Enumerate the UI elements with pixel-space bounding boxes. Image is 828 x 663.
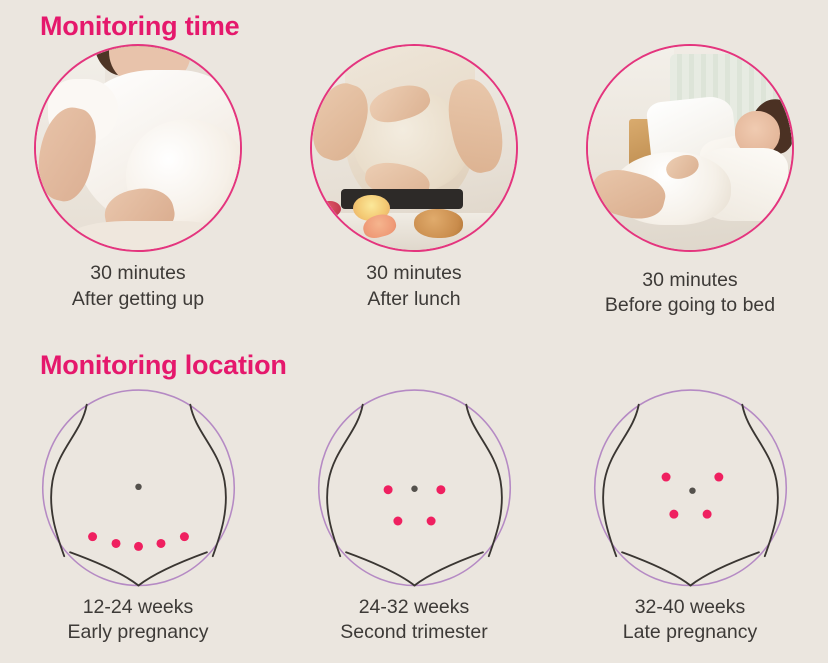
monitoring-time-item-getting-up: 30 minutes After getting up xyxy=(0,44,276,319)
caption-second-trimester: 24-32 weeks Second trimester xyxy=(340,595,487,646)
caption-line-1: 30 minutes xyxy=(366,261,461,287)
caption-late-pregnancy: 32-40 weeks Late pregnancy xyxy=(623,595,757,646)
measurement-dot xyxy=(426,517,435,526)
photo-pregnant-woman-with-fruit xyxy=(310,44,518,252)
caption-line-2: Before going to bed xyxy=(605,293,775,319)
diagram-ring-circle xyxy=(594,390,786,585)
torso-right-outline xyxy=(190,405,226,556)
measurement-dot xyxy=(669,510,678,519)
caption-before-bed: 30 minutes Before going to bed xyxy=(605,268,775,319)
photo-inner xyxy=(588,46,792,250)
caption-line-2: Early pregnancy xyxy=(68,620,209,646)
navel-marker xyxy=(411,486,417,492)
measurement-dot xyxy=(436,485,445,494)
caption-after-lunch: 30 minutes After lunch xyxy=(366,261,461,312)
photo-inner xyxy=(312,46,516,250)
torso-left-outline xyxy=(603,405,639,556)
monitoring-location-row: 12-24 weeks Early pregnancy xyxy=(0,386,828,646)
photo-inner xyxy=(36,46,240,250)
navel-marker xyxy=(689,487,695,493)
monitoring-location-item-early-pregnancy: 12-24 weeks Early pregnancy xyxy=(0,386,276,646)
measurement-dot xyxy=(383,485,392,494)
photo-pants xyxy=(65,221,228,250)
torso-left-outline xyxy=(327,405,363,556)
caption-line-2: Late pregnancy xyxy=(623,620,757,646)
groin-crease-left xyxy=(622,552,690,585)
caption-early-pregnancy: 12-24 weeks Early pregnancy xyxy=(68,595,209,646)
caption-line-1: 32-40 weeks xyxy=(623,595,757,621)
groin-crease-right xyxy=(138,552,206,585)
monitoring-location-item-late-pregnancy: 32-40 weeks Late pregnancy xyxy=(552,386,828,646)
photo-pregnant-woman-white-top xyxy=(34,44,242,252)
measurement-dot xyxy=(156,539,165,548)
monitoring-time-item-before-bed: 30 minutes Before going to bed xyxy=(552,44,828,319)
caption-line-2: After getting up xyxy=(72,287,204,313)
torso-left-outline xyxy=(51,405,87,556)
torso-right-outline xyxy=(466,405,502,556)
navel-marker xyxy=(135,484,141,490)
groin-crease-right xyxy=(414,552,482,585)
measurement-dot xyxy=(88,532,97,541)
measurement-dot xyxy=(714,473,723,482)
photo-pregnant-woman-in-bed xyxy=(586,44,794,252)
torso-right-outline xyxy=(742,405,778,556)
caption-line-1: 24-32 weeks xyxy=(340,595,487,621)
groin-crease-left xyxy=(346,552,414,585)
measurement-dots xyxy=(661,473,723,519)
measurement-dots xyxy=(88,532,189,551)
caption-line-2: After lunch xyxy=(366,287,461,313)
measurement-dot xyxy=(702,510,711,519)
photo-pastry xyxy=(414,209,463,238)
belly-diagram-late-pregnancy xyxy=(583,386,798,591)
measurement-dot xyxy=(134,542,143,551)
monitoring-time-row: 30 minutes After getting up xyxy=(0,44,828,319)
monitoring-location-item-second-trimester: 24-32 weeks Second trimester xyxy=(276,386,552,646)
belly-diagram-early-pregnancy xyxy=(31,386,246,591)
caption-line-2: Second trimester xyxy=(340,620,487,646)
caption-getting-up: 30 minutes After getting up xyxy=(72,261,204,312)
photo-berries xyxy=(318,201,340,217)
groin-crease-left xyxy=(70,552,138,585)
groin-crease-right xyxy=(690,552,758,585)
section-heading-monitoring-location: Monitoring location xyxy=(40,350,287,381)
measurement-dot xyxy=(393,517,402,526)
measurement-dot xyxy=(179,532,188,541)
section-heading-monitoring-time: Monitoring time xyxy=(40,11,239,42)
caption-line-1: 30 minutes xyxy=(605,268,775,294)
measurement-dot xyxy=(111,539,120,548)
caption-line-1: 30 minutes xyxy=(72,261,204,287)
caption-line-1: 12-24 weeks xyxy=(68,595,209,621)
monitoring-time-item-after-lunch: 30 minutes After lunch xyxy=(276,44,552,319)
belly-diagram-second-trimester xyxy=(307,386,522,591)
measurement-dot xyxy=(661,473,670,482)
